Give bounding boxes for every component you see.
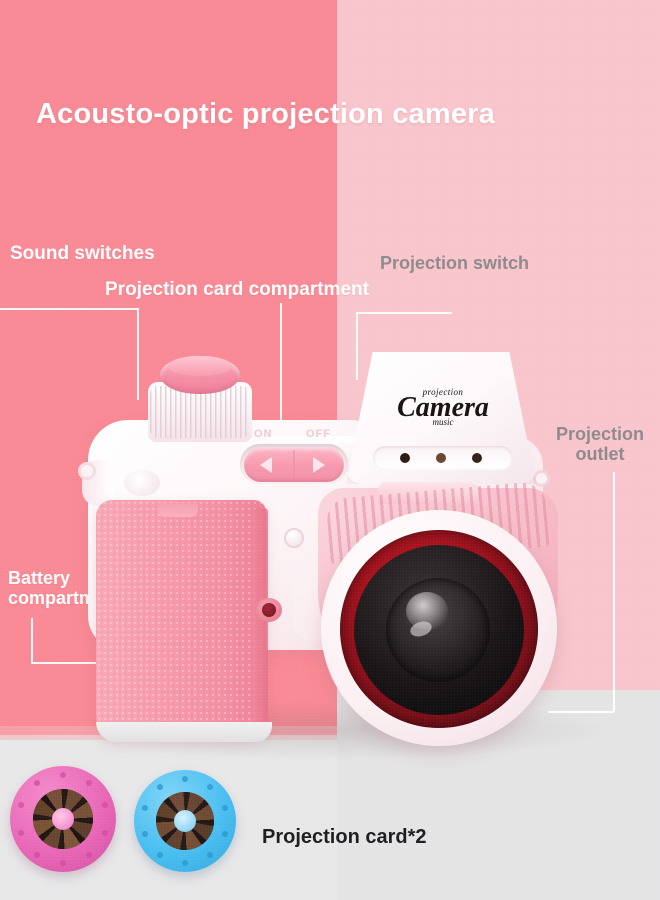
switch-off-label: OFF <box>306 428 331 440</box>
label-projection-card-count: Projection card*2 <box>262 826 427 848</box>
projection-card-rivet <box>60 772 66 778</box>
grip-texture <box>96 500 266 738</box>
product-infographic: Acousto-optic projection camera Sound sw… <box>0 0 660 900</box>
toy-camera-product: ON OFF projection Camera music <box>78 340 578 740</box>
leader-outlet-vertical <box>613 472 615 712</box>
body-small-plate <box>124 470 160 496</box>
lens-inner-element <box>386 578 490 682</box>
strap-lug-right-icon <box>533 470 550 487</box>
page-title: Acousto-optic projection camera <box>36 98 636 131</box>
strap-lug-left-icon <box>78 462 96 480</box>
leader-switch-horizontal <box>356 312 452 314</box>
leader-battery-vertical <box>31 618 33 664</box>
projection-card-rivet <box>207 784 213 790</box>
projection-card-rivet <box>18 830 24 836</box>
sound-switch-divider <box>293 450 295 480</box>
body-mini-button[interactable] <box>284 528 304 548</box>
label-sound-switches: Sound switches <box>10 243 155 264</box>
switch-on-label: ON <box>254 428 273 440</box>
label-projection-card-compartment: Projection card compartment <box>105 279 369 300</box>
arrow-left-icon[interactable] <box>260 457 272 473</box>
projection-card-rivet <box>222 831 228 837</box>
grip-notch <box>158 503 198 517</box>
projection-card-rivet <box>222 805 228 811</box>
arrow-right-icon[interactable] <box>313 457 325 473</box>
projection-card-rivet <box>34 852 40 858</box>
projection-card-compartment-knob-top[interactable] <box>168 356 232 376</box>
indicator-dot-2 <box>436 453 446 463</box>
projection-card-blue-hub <box>174 810 196 832</box>
indicator-dot-3 <box>472 453 482 463</box>
indicator-dot-1 <box>400 453 410 463</box>
label-projection-switch: Projection switch <box>380 253 529 273</box>
leader-sound-horizontal <box>0 308 138 310</box>
projection-card-rivet <box>142 831 148 837</box>
battery-release-button-center[interactable] <box>262 603 276 617</box>
projection-card-rivet <box>182 860 188 866</box>
projection-card-rivet <box>207 852 213 858</box>
projection-card-rivet <box>182 776 188 782</box>
brand-logo: projection Camera music <box>378 388 508 427</box>
projection-card-rivet <box>86 852 92 858</box>
projection-card-pink-hub <box>52 808 74 830</box>
projection-card-rivet <box>102 830 108 836</box>
projection-card-rivet <box>60 860 66 866</box>
camera-base <box>96 722 272 742</box>
